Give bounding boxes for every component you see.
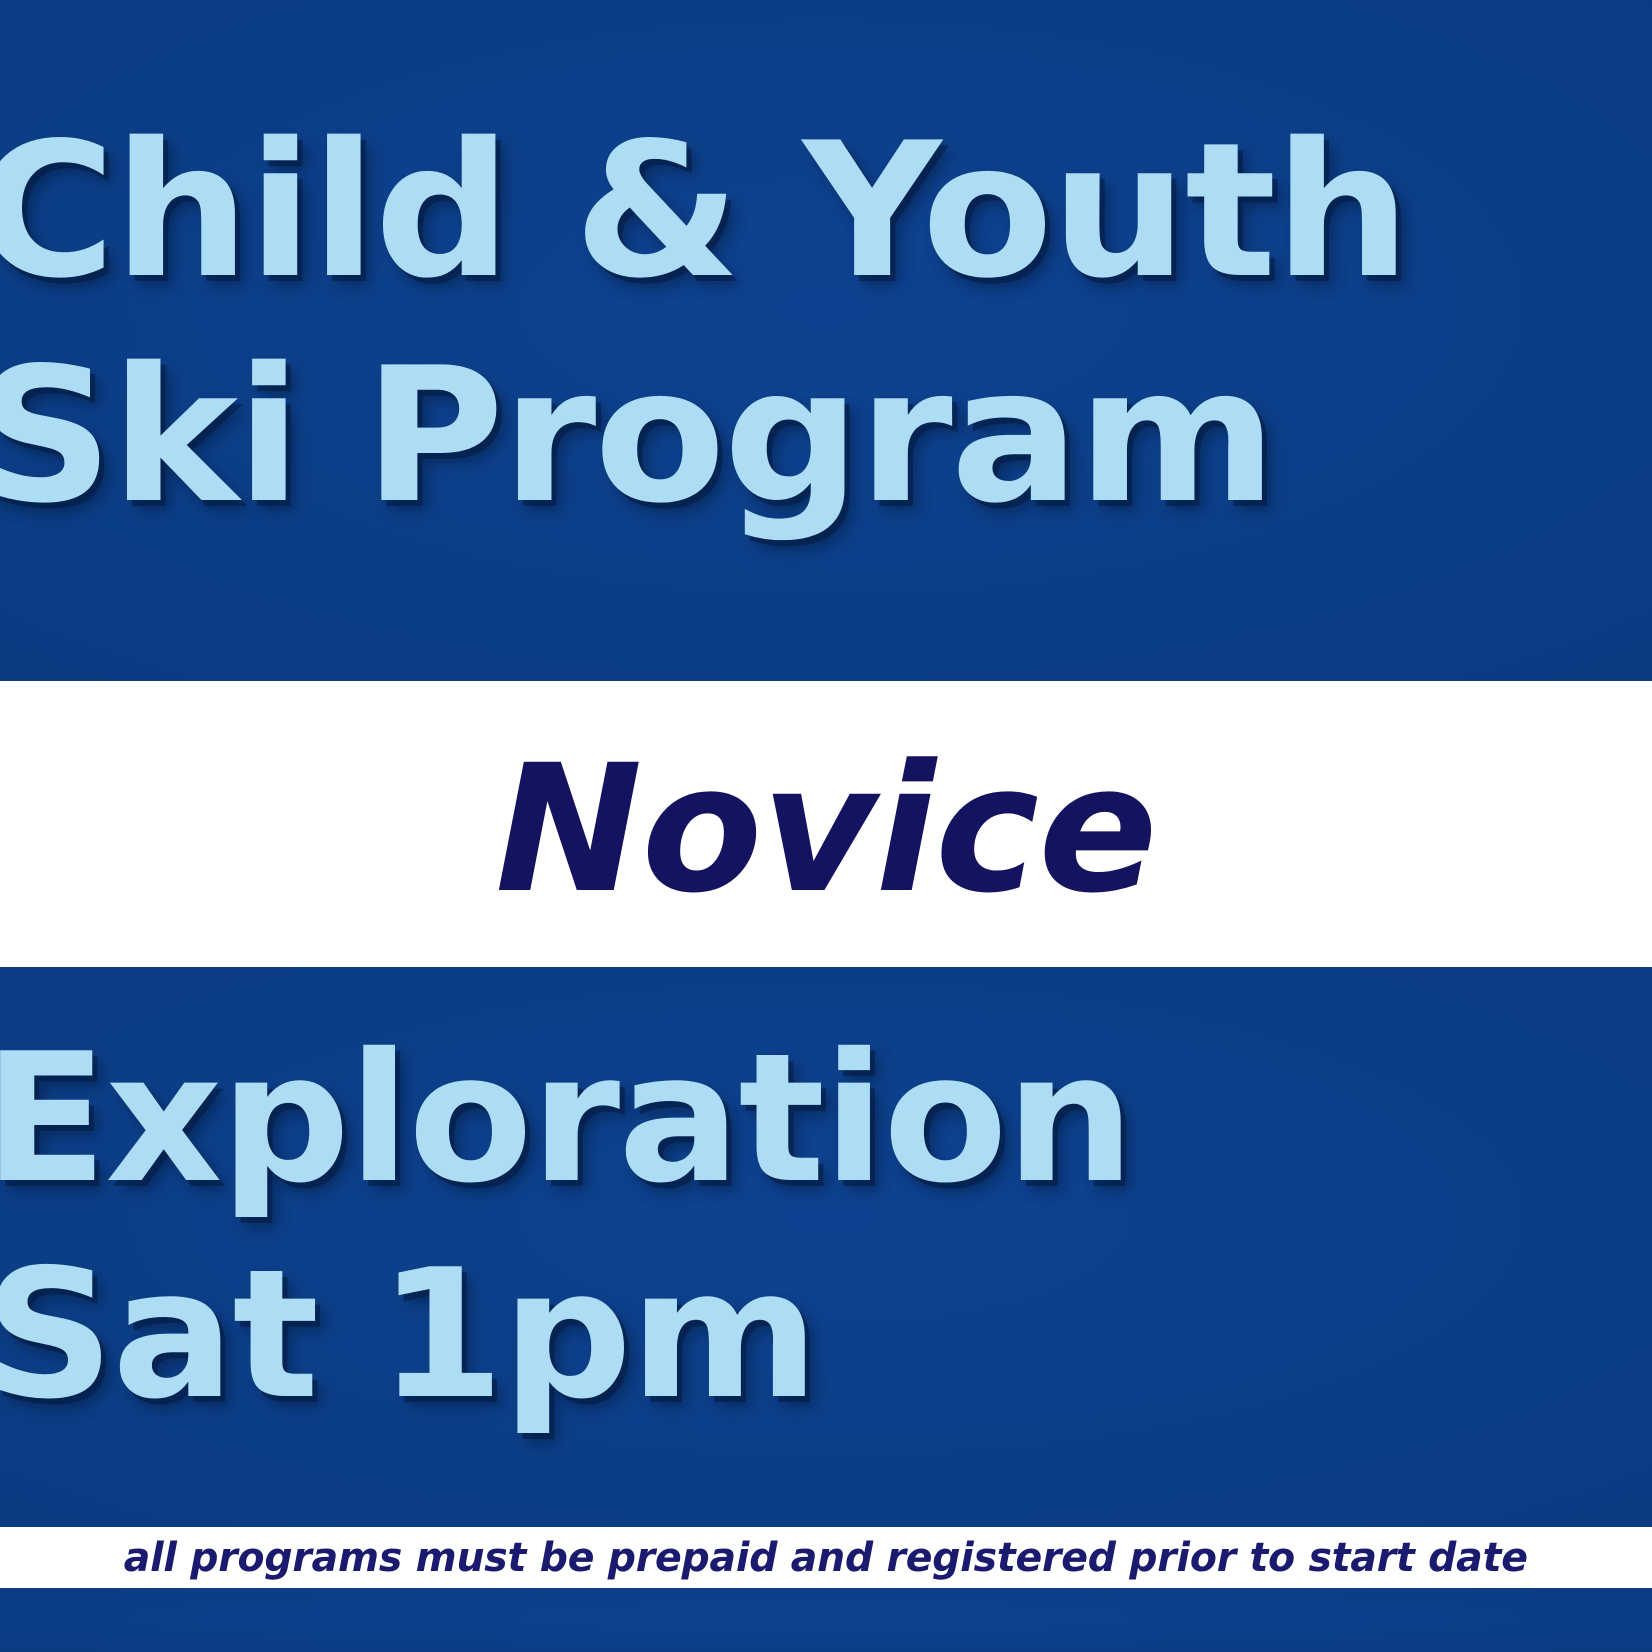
- program-title-line-1: Child & Youth: [0, 120, 1652, 302]
- level-label-container: Novice: [0, 681, 1652, 967]
- prepay-registration-note: all programs must be prepaid and registe…: [124, 1538, 1528, 1578]
- ski-program-poster: Child & Youth Ski Program Novice Explora…: [0, 0, 1652, 1652]
- session-name: Exploration: [0, 1032, 1652, 1206]
- level-label: Novice: [495, 742, 1157, 918]
- program-title-line-2: Ski Program: [0, 345, 1652, 527]
- session-schedule: Sat 1pm: [0, 1248, 1652, 1422]
- bottom-strip: [0, 1588, 1652, 1652]
- footnote-container: all programs must be prepaid and registe…: [0, 1527, 1652, 1588]
